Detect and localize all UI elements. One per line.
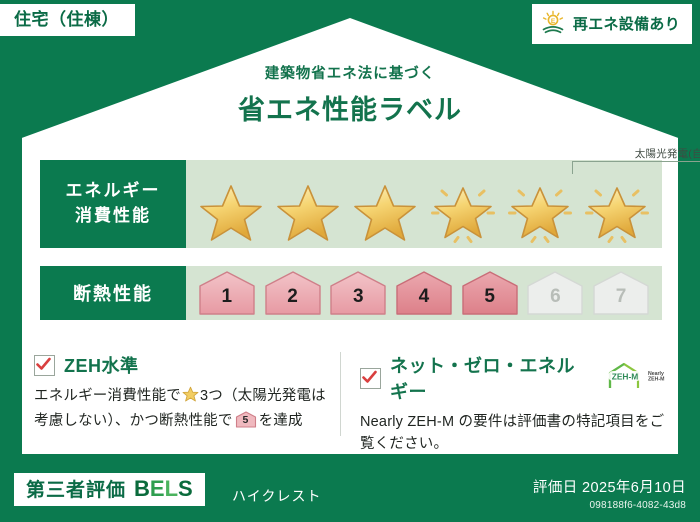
- bels-letter-l: L: [165, 476, 178, 501]
- bels-wordmark: BELS: [134, 478, 193, 500]
- house-icon-level-2: 2: [263, 270, 323, 316]
- criteria-zeh-title: ZEH水準: [64, 352, 139, 378]
- criteria-netzero-body: Nearly ZEH-M の要件は評価書の特記項目をご覧ください。: [360, 411, 672, 456]
- star-rating: [186, 178, 662, 244]
- bels-jp-label: 第三者評価: [26, 481, 126, 500]
- check-icon: [360, 368, 381, 389]
- energy-performance-value: 太陽光発電(自家消費)分: [186, 160, 662, 248]
- bels-letter-b: B: [134, 476, 150, 501]
- building-type-chip: 住宅（住棟）: [0, 4, 135, 36]
- svg-text:ZEH-M: ZEH-M: [612, 371, 639, 381]
- criteria-divider: [340, 352, 341, 436]
- solar-annotation-label: 太陽光発電(自家消費)分: [572, 146, 700, 161]
- house-level-number: 6: [525, 287, 585, 306]
- star-icon: [351, 178, 419, 244]
- criteria-zeh-block: ZEH水準 エネルギー消費性能で3つ（太陽光発電は考慮しない）、かつ断熱性能で5…: [34, 352, 334, 433]
- insulation-level-scale: 1 2 3: [186, 266, 662, 320]
- star-icon-solar: [429, 178, 497, 244]
- solar-bracket: [572, 161, 700, 174]
- page-title: 省エネ性能ラベル: [0, 88, 700, 127]
- criteria-zeh-header: ZEH水準: [34, 352, 334, 378]
- title-subtitle: 建築物省エネ法に基づく: [0, 62, 700, 83]
- star-icon-solar: [583, 178, 651, 244]
- svg-text:E: E: [551, 18, 556, 25]
- bels-certification-box: 第三者評価 BELS: [14, 473, 205, 506]
- insulation-performance-key: 断熱性能: [40, 266, 186, 320]
- evaluation-info: 評価日 2025年6月10日 098188f6-4082-43d8: [533, 476, 686, 511]
- house-icon-level-7: 7: [591, 270, 651, 316]
- star-icon-inline: [182, 391, 199, 407]
- house-icon-level-5: 5: [460, 270, 520, 316]
- house-level-number: 1: [197, 287, 257, 306]
- star-icon: [197, 178, 265, 244]
- house-level-number: 2: [263, 287, 323, 306]
- star-icon-solar: [506, 178, 574, 244]
- renewable-equipment-label: 再エネ設備あり: [573, 17, 680, 32]
- sun-energy-icon: E: [540, 10, 566, 38]
- house-icon-level-4: 4: [394, 270, 454, 316]
- house-icon-level-1: 1: [197, 270, 257, 316]
- criteria-zeh-body: エネルギー消費性能で3つ（太陽光発電は考慮しない）、かつ断熱性能で5を達成: [34, 385, 334, 433]
- house-level-number: 5: [460, 287, 520, 306]
- house-level-number: 4: [394, 287, 454, 306]
- house-level-number: 7: [591, 287, 651, 306]
- energy-key-line1: エネルギー: [66, 179, 161, 204]
- house-level-number: 3: [328, 287, 388, 306]
- energy-performance-key: エネルギー 消費性能: [40, 160, 186, 248]
- house-icon-inline: 5: [235, 411, 257, 428]
- criteria-netzero-header: ネット・ゼロ・エネルギー ZEH-M Nearly ZEH-M: [360, 352, 672, 404]
- criteria-zeh-text-3: を達成: [259, 413, 303, 429]
- house-icon-level-6: 6: [525, 270, 585, 316]
- energy-performance-row: エネルギー 消費性能 太陽光発電(自家消費)分: [40, 160, 662, 248]
- house-icon-inline-number: 5: [235, 415, 257, 426]
- renewable-equipment-badge: E 再エネ設備あり: [532, 4, 692, 44]
- label-title-block: 建築物省エネ法に基づく 省エネ性能ラベル: [0, 62, 700, 127]
- criteria-netzero-block: ネット・ゼロ・エネルギー ZEH-M Nearly ZEH-M Nearly Z…: [360, 352, 672, 456]
- energy-performance-label: 住宅（住棟） E 再エネ設備あり 建築物省エネ法に基づく 省エネ性能ラベ: [0, 0, 700, 522]
- zeh-m-house-logo: ZEH-M Nearly ZEH-M: [606, 361, 672, 396]
- building-type-label: 住宅（住棟）: [14, 10, 119, 29]
- insulation-performance-row: 断熱性能 1 2: [40, 266, 662, 320]
- svg-text:ZEH-M: ZEH-M: [648, 376, 664, 382]
- bels-letter-e: E: [150, 476, 165, 501]
- evaluation-id: 098188f6-4082-43d8: [533, 500, 686, 511]
- evaluation-date: 評価日 2025年6月10日: [533, 476, 686, 497]
- energy-key-line2: 消費性能: [75, 204, 151, 229]
- criteria-netzero-title: ネット・ゼロ・エネルギー: [390, 352, 591, 404]
- insulation-key-label: 断熱性能: [73, 280, 153, 306]
- label-footer: 第三者評価 BELS ハイクレスト 評価日 2025年6月10日 098188f…: [0, 464, 700, 522]
- builder-name: ハイクレスト: [232, 486, 321, 506]
- bels-letter-s: S: [178, 476, 193, 501]
- house-icon-level-3: 3: [328, 270, 388, 316]
- insulation-performance-value: 1 2 3: [186, 266, 662, 320]
- check-icon: [34, 355, 55, 376]
- star-icon: [274, 178, 342, 244]
- criteria-zeh-text-1: エネルギー消費性能で: [34, 388, 181, 404]
